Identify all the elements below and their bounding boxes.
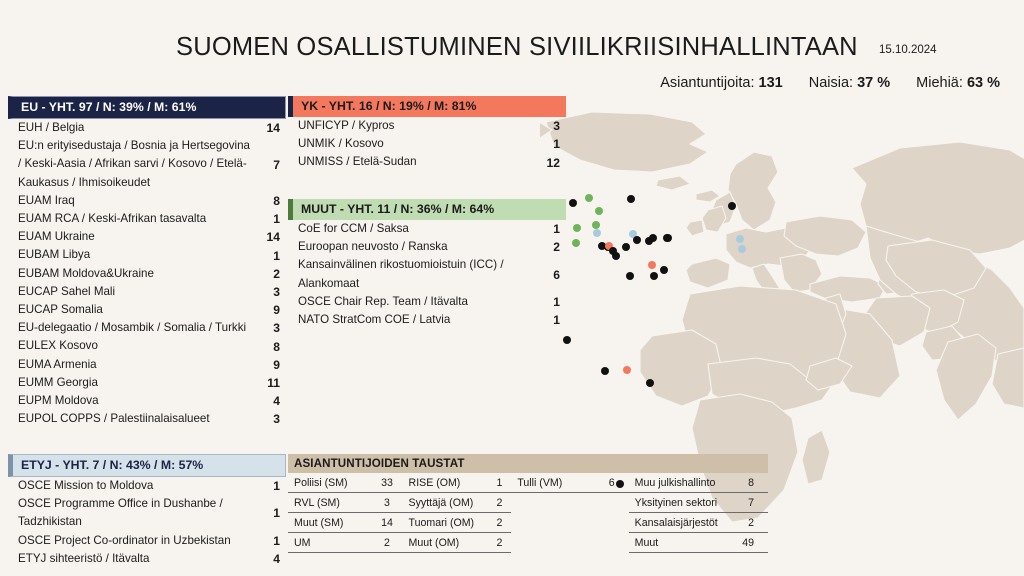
stat-experts: Asiantuntijoita: 131: [660, 75, 783, 91]
map-marker-eu: [612, 252, 620, 260]
stat-men-label: Miehiä:: [916, 75, 963, 91]
list-item-label: EU-delegaatio / Mosambik / Somalia / Tur…: [8, 319, 254, 337]
cell-sm-value: 14: [371, 513, 402, 533]
table-row: UM 2 Muut (OM) 2 Muut 49: [288, 533, 768, 553]
list-item-label: OSCE Project Co-ordinator in Uzbekistan: [8, 532, 254, 550]
map-marker-muut: [585, 194, 593, 202]
cell-om-label: Tuomari (OM): [403, 513, 488, 533]
panel-eu-list: EUH / Belgia14 EU:n erityisedustaja / Bo…: [8, 119, 286, 428]
map-marker-eu: [626, 272, 634, 280]
cell-sector-value: 49: [721, 533, 768, 553]
list-item-value: 14: [254, 230, 286, 244]
list-item-value: 1: [254, 249, 286, 263]
list-item-value: 1: [254, 534, 286, 548]
list-item-value: 1: [534, 313, 566, 327]
list-item-label: EUAM Ukraine: [8, 228, 254, 246]
panel-yk-header: YK - YHT. 16 / N: 19% / M: 81%: [288, 96, 566, 117]
list-item-value: 2: [254, 267, 286, 281]
list-item-label: EUAM Iraq: [8, 192, 254, 210]
panel-muut-list: CoE for CCM / Saksa1 Euroopan neuvosto /…: [288, 220, 566, 329]
list-item[interactable]: EUBAM Moldova&Ukraine2: [8, 265, 286, 283]
list-item[interactable]: EULEX Kosovo8: [8, 337, 286, 355]
map-marker-eu: [728, 202, 736, 210]
list-item[interactable]: Kansainvälinen rikostuomioistuin (ICC) /…: [288, 256, 566, 292]
panel-yk: YK - YHT. 16 / N: 19% / M: 81% UNFICYP /…: [288, 96, 566, 172]
map-marker-eu: [664, 234, 672, 242]
list-item[interactable]: EUPOL COPPS / Palestiinalaisalueet3: [8, 410, 286, 428]
list-item[interactable]: UNMIK / Kosovo1: [288, 135, 566, 153]
map-marker-etyj: [738, 245, 746, 253]
list-item-value: 6: [534, 268, 566, 282]
list-item-label: EUMA Armenia: [8, 356, 254, 374]
list-item[interactable]: OSCE Chair Rep. Team / Itävalta1: [288, 293, 566, 311]
backgrounds-table-grid: Poliisi (SM) 33 RISE (OM) 1 Tulli (VM) 6…: [288, 473, 768, 553]
cell-sm-label: RVL (SM): [288, 493, 371, 513]
map-marker-muut: [595, 207, 603, 215]
stat-men: Miehiä: 63 %: [916, 75, 1000, 91]
list-item-label: EU:n erityisedustaja / Bosnia ja Hertseg…: [8, 137, 254, 192]
list-item-value: 9: [254, 303, 286, 317]
list-item-label: EUH / Belgia: [8, 119, 254, 137]
list-item-label: OSCE Mission to Moldova: [8, 477, 254, 495]
map-marker-etyj: [593, 229, 601, 237]
list-item-label: OSCE Programme Office in Dushanbe / Tadz…: [8, 495, 254, 531]
stat-women-value: 37 %: [857, 75, 890, 91]
list-item-value: 1: [254, 506, 286, 520]
list-item-value: 7: [254, 158, 286, 172]
stat-experts-label: Asiantuntijoita:: [660, 75, 754, 91]
list-item[interactable]: UNMISS / Etelä-Sudan12: [288, 153, 566, 171]
cell-vm-value: [582, 493, 628, 513]
backgrounds-table: ASIANTUNTIJOIDEN TAUSTAT Poliisi (SM) 33…: [288, 454, 768, 553]
list-item[interactable]: UNFICYP / Kypros3: [288, 117, 566, 135]
cell-sector-label: Kansalaisjärjestöt: [629, 513, 722, 533]
cell-vm-label: Tulli (VM): [511, 473, 582, 493]
stat-experts-value: 131: [759, 75, 783, 91]
list-item-label: UNMIK / Kosovo: [288, 135, 534, 153]
panel-etyj-list: OSCE Mission to Moldova1 OSCE Programme …: [8, 477, 286, 568]
map-marker-eu: [569, 199, 577, 207]
cell-sector-value: 2: [721, 513, 768, 533]
list-item-label: EUPM Moldova: [8, 392, 254, 410]
panel-yk-list: UNFICYP / Kypros3 UNMIK / Kosovo1 UNMISS…: [288, 117, 566, 172]
list-item[interactable]: EUMA Armenia9: [8, 356, 286, 374]
list-item-label: OSCE Chair Rep. Team / Itävalta: [288, 293, 534, 311]
list-item-label: ETYJ sihteeristö / Itävalta: [8, 550, 254, 568]
list-item-value: 3: [534, 119, 566, 133]
cell-sector-value: 7: [721, 493, 768, 513]
panel-etyj-header: ETYJ - YHT. 7 / N: 43% / M: 57%: [8, 454, 286, 477]
map-marker-eu: [646, 379, 654, 387]
map-marker-eu: [563, 336, 571, 344]
list-item[interactable]: OSCE Programme Office in Dushanbe / Tadz…: [8, 495, 286, 531]
list-item-value: 9: [254, 358, 286, 372]
panel-etyj: ETYJ - YHT. 7 / N: 43% / M: 57% OSCE Mis…: [8, 454, 286, 568]
list-item[interactable]: EUAM Ukraine14: [8, 228, 286, 246]
list-item[interactable]: EUCAP Somalia9: [8, 301, 286, 319]
map-marker-eu: [650, 272, 658, 280]
cell-sm-label: UM: [288, 533, 371, 553]
summary-stats: Asiantuntijoita: 131 Naisia: 37 % Miehiä…: [660, 75, 1000, 91]
cell-om-value: 2: [488, 533, 512, 553]
cell-om-value: 2: [488, 513, 512, 533]
list-item-label: UNMISS / Etelä-Sudan: [288, 153, 534, 171]
list-item[interactable]: NATO StratCom COE / Latvia1: [288, 311, 566, 329]
cell-vm-value: [582, 533, 628, 553]
list-item[interactable]: OSCE Mission to Moldova1: [8, 477, 286, 495]
map-marker-etyj: [736, 235, 744, 243]
list-item-value: 3: [254, 285, 286, 299]
cell-sm-value: 33: [371, 473, 402, 493]
list-item-value: 4: [254, 552, 286, 566]
map-marker-muut: [572, 239, 580, 247]
list-item-label: Kansainvälinen rikostuomioistuin (ICC) /…: [288, 256, 534, 292]
list-item[interactable]: ETYJ sihteeristö / Itävalta4: [8, 550, 286, 568]
list-item-value: 1: [254, 212, 286, 226]
stat-men-value: 63 %: [967, 75, 1000, 91]
list-item-label: EULEX Kosovo: [8, 337, 254, 355]
list-item-label: EUBAM Libya: [8, 246, 254, 264]
map-marker-eu: [601, 367, 609, 375]
list-item[interactable]: EUH / Belgia14: [8, 119, 286, 137]
list-item-label: EUCAP Sahel Mali: [8, 283, 254, 301]
map-marker-eu: [633, 236, 641, 244]
list-item-label: NATO StratCom COE / Latvia: [288, 311, 534, 329]
list-item-value: 1: [254, 479, 286, 493]
map-marker-eu: [622, 243, 630, 251]
list-item[interactable]: EUPM Moldova4: [8, 392, 286, 410]
list-item-label: EUPOL COPPS / Palestiinalaisalueet: [8, 410, 254, 428]
table-row: Muut (SM) 14 Tuomari (OM) 2 Kansalaisjär…: [288, 513, 768, 533]
map-marker-muut: [573, 224, 581, 232]
list-item-label: Euroopan neuvosto / Ranska: [288, 238, 534, 256]
cell-vm-label: [511, 533, 582, 553]
list-item[interactable]: EUBAM Libya1: [8, 246, 286, 264]
list-item[interactable]: EU:n erityisedustaja / Bosnia ja Hertseg…: [8, 137, 286, 192]
list-item-value: 12: [534, 156, 566, 170]
cell-sm-label: Poliisi (SM): [288, 473, 371, 493]
list-item-value: 3: [254, 321, 286, 335]
list-item-value: 4: [254, 394, 286, 408]
list-item-label: EUCAP Somalia: [8, 301, 254, 319]
list-item-label: EUMM Georgia: [8, 374, 254, 392]
list-item-value: 8: [254, 340, 286, 354]
table-row: RVL (SM) 3 Syyttäjä (OM) 2 Yksityinen se…: [288, 493, 768, 513]
list-item-label: EUAM RCA / Keski-Afrikan tasavalta: [8, 210, 254, 228]
map-marker-yk: [623, 366, 631, 374]
list-item[interactable]: OSCE Project Co-ordinator in Uzbekistan1: [8, 532, 286, 550]
list-item[interactable]: EUMM Georgia11: [8, 374, 286, 392]
cell-sm-value: 3: [371, 493, 402, 513]
list-item-label: EUBAM Moldova&Ukraine: [8, 265, 254, 283]
list-item[interactable]: EU-delegaatio / Mosambik / Somalia / Tur…: [8, 319, 286, 337]
map-marker-eu: [649, 234, 657, 242]
page-title: SUOMEN OSALLISTUMINEN SIVIILIKRIISINHALL…: [176, 33, 858, 62]
cell-vm-label: [511, 493, 582, 513]
list-item[interactable]: EUAM RCA / Keski-Afrikan tasavalta1: [8, 210, 286, 228]
cell-sm-label: Muut (SM): [288, 513, 371, 533]
cell-vm-value: 6: [582, 473, 628, 493]
map-marker-eu: [660, 266, 668, 274]
cell-sector-label: Muut: [629, 533, 722, 553]
map-marker-muut: [592, 221, 600, 229]
list-item[interactable]: EUAM Iraq8: [8, 192, 286, 210]
cell-om-value: 1: [488, 473, 512, 493]
panel-eu-header: EU - YHT. 97 / N: 39% / M: 61%: [8, 96, 286, 119]
list-item[interactable]: Euroopan neuvosto / Ranska2: [288, 238, 566, 256]
stat-women: Naisia: 37 %: [809, 75, 890, 91]
list-item-value: 8: [254, 194, 286, 208]
list-item-value: 1: [534, 137, 566, 151]
list-item-label: CoE for CCM / Saksa: [288, 220, 534, 238]
cell-sector-value: 8: [721, 473, 768, 493]
list-item-value: 11: [254, 376, 286, 390]
cell-om-label: Syyttäjä (OM): [403, 493, 488, 513]
cell-om-value: 2: [488, 493, 512, 513]
cell-sector-label: Yksityinen sektori: [629, 493, 722, 513]
list-item-label: UNFICYP / Kypros: [288, 117, 534, 135]
cell-sm-value: 2: [371, 533, 402, 553]
cell-om-label: RISE (OM): [403, 473, 488, 493]
infographic-poster: SUOMEN OSALLISTUMINEN SIVIILIKRIISINHALL…: [0, 0, 1024, 576]
list-item-value: 2: [534, 240, 566, 254]
cell-sector-label: Muu julkishallinto: [629, 473, 722, 493]
panel-muut: MUUT - YHT. 11 / N: 36% / M: 64% CoE for…: [288, 199, 566, 329]
table-row: Poliisi (SM) 33 RISE (OM) 1 Tulli (VM) 6…: [288, 473, 768, 493]
date-label: 15.10.2024: [879, 44, 937, 56]
list-item-value: 14: [254, 121, 286, 135]
list-item[interactable]: EUCAP Sahel Mali3: [8, 283, 286, 301]
panel-eu: EU - YHT. 97 / N: 39% / M: 61% EUH / Bel…: [8, 96, 286, 428]
list-item-value: 1: [534, 295, 566, 309]
list-item-value: 1: [534, 222, 566, 236]
map-marker-eu: [627, 195, 635, 203]
panel-muut-header: MUUT - YHT. 11 / N: 36% / M: 64%: [288, 199, 566, 220]
map-marker-yk: [648, 261, 656, 269]
stat-women-label: Naisia:: [809, 75, 853, 91]
list-item-value: 3: [254, 412, 286, 426]
cell-vm-value: [582, 513, 628, 533]
backgrounds-table-title: ASIANTUNTIJOIDEN TAUSTAT: [288, 454, 768, 473]
cell-vm-label: [511, 513, 582, 533]
list-item[interactable]: CoE for CCM / Saksa1: [288, 220, 566, 238]
cell-om-label: Muut (OM): [403, 533, 488, 553]
